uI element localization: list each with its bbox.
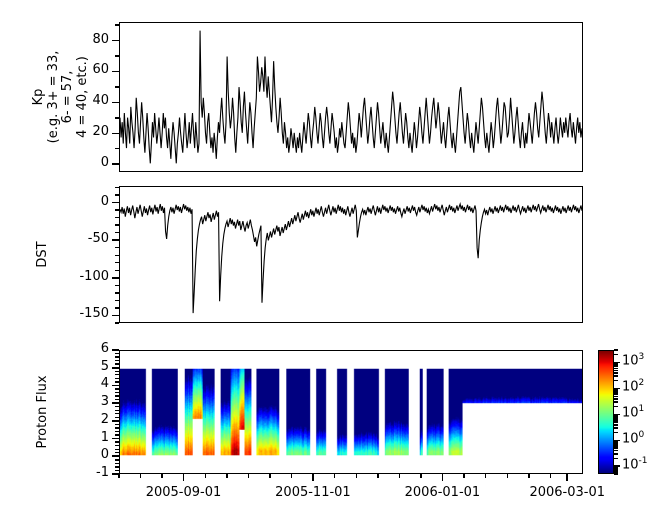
colorbar-tick-minor	[614, 366, 618, 368]
colorbar-tick-minor	[614, 372, 618, 374]
y-tick-major	[112, 239, 119, 241]
colorbar-tick-minor	[614, 398, 618, 400]
y-tick-minor	[115, 381, 119, 382]
y-tick-minor	[115, 463, 119, 464]
y-tick-minor	[115, 470, 119, 471]
y-tick-minor	[115, 270, 119, 271]
colorbar-tick-label: 101	[622, 404, 644, 420]
colorbar-tick-minor	[614, 389, 618, 391]
y-tick-minor	[115, 417, 119, 418]
y-tick-label: -150	[61, 306, 109, 321]
y-tick-label: -100	[61, 269, 109, 284]
colorbar-tick-minor	[614, 363, 618, 365]
colorbar-tick-label: 102	[622, 378, 644, 394]
x-tick-minor	[140, 474, 141, 478]
y-tick-label: 40	[61, 93, 109, 108]
dst-series-line	[120, 187, 582, 322]
y-tick-label: 3	[61, 394, 109, 409]
y-tick-label: 4	[61, 376, 109, 391]
colorbar-tick-minor	[614, 467, 618, 469]
y-tick-label: 20	[61, 124, 109, 139]
y-tick-minor	[115, 466, 119, 467]
y-tick-minor	[115, 374, 119, 375]
kp-plot-panel	[119, 22, 583, 172]
y-tick-minor	[115, 55, 119, 56]
y-tick-minor	[115, 285, 119, 286]
x-tick-minor	[248, 474, 249, 478]
x-tick-minor	[507, 474, 508, 478]
colorbar-tick-minor	[614, 442, 618, 444]
y-tick-minor	[115, 427, 119, 428]
y-tick-label: 60	[61, 62, 109, 77]
colorbar-tick-minor	[614, 416, 618, 418]
x-tick-minor	[550, 474, 551, 478]
y-tick-minor	[115, 378, 119, 379]
y-tick-major	[112, 315, 119, 317]
y-tick-minor	[115, 363, 119, 364]
y-tick-major	[112, 202, 119, 204]
colorbar-tick-minor	[614, 393, 618, 395]
x-tick-minor	[420, 474, 421, 478]
colorbar-tick-minor	[614, 424, 618, 426]
x-tick-label: 2006-03-01	[507, 485, 627, 500]
colorbar-tick-minor	[614, 375, 618, 377]
y-tick-minor	[115, 441, 119, 442]
y-tick-minor	[115, 24, 119, 25]
y-tick-minor	[115, 371, 119, 372]
x-tick-label: 2005-11-01	[253, 485, 373, 500]
colorbar-tick-minor	[614, 415, 618, 417]
y-tick-minor	[115, 406, 119, 407]
y-tick-minor	[115, 388, 119, 389]
y-tick-minor	[115, 353, 119, 354]
y-tick-minor	[115, 217, 119, 218]
y-tick-label: -1	[61, 465, 109, 480]
x-tick-minor	[291, 474, 292, 478]
colorbar-tick-minor	[614, 364, 618, 366]
colorbar-tick-minor	[614, 432, 618, 434]
colorbar-tick-minor	[614, 354, 618, 356]
x-tick-minor	[399, 474, 400, 478]
y-tick-label: 0	[61, 194, 109, 209]
colorbar-tick-minor	[614, 421, 618, 423]
colorbar-tick-minor	[614, 453, 618, 455]
colorbar-tick-minor	[614, 468, 618, 470]
y-tick-minor	[115, 445, 119, 446]
y-tick-minor	[115, 449, 119, 450]
x-tick-minor	[226, 474, 227, 478]
y-tick-minor	[115, 459, 119, 460]
x-tick-minor	[334, 474, 335, 478]
y-tick-major	[112, 367, 119, 369]
x-tick-minor	[485, 474, 486, 478]
figure-root: Kp (e.g. 3+ = 33, 6- = 57, 4 = 40, etc.)…	[0, 0, 665, 523]
x-tick-major	[566, 474, 568, 481]
dst-plot-panel	[119, 186, 583, 323]
colorbar-tick-label: 10-1	[622, 456, 648, 472]
proton-flux-spectrogram	[120, 351, 582, 473]
y-tick-major	[112, 71, 119, 73]
x-tick-minor	[161, 474, 162, 478]
y-tick-minor	[115, 399, 119, 400]
colorbar-tick-label: 103	[622, 352, 644, 368]
colorbar-tick-minor	[614, 392, 618, 394]
x-tick-minor	[269, 474, 270, 478]
y-tick-minor	[115, 392, 119, 393]
x-tick-minor	[356, 474, 357, 478]
y-tick-major	[112, 420, 119, 422]
colorbar-tick-minor	[614, 401, 618, 403]
y-tick-label: 80	[61, 32, 109, 47]
y-tick-minor	[115, 262, 119, 263]
y-tick-minor	[115, 255, 119, 256]
y-tick-major	[112, 455, 119, 457]
y-tick-major	[112, 349, 119, 351]
colorbar-tick-minor	[614, 470, 618, 472]
y-tick-major	[112, 133, 119, 135]
y-tick-minor	[115, 232, 119, 233]
y-tick-minor	[115, 194, 119, 195]
colorbar-tick-minor	[614, 368, 618, 370]
y-tick-minor	[115, 307, 119, 308]
y-tick-label: 5	[61, 359, 109, 374]
colorbar-tick-minor	[614, 458, 618, 460]
x-tick-minor	[463, 474, 464, 478]
x-tick-minor	[528, 474, 529, 478]
y-tick-major	[112, 277, 119, 279]
y-tick-minor	[115, 360, 119, 361]
colorbar-tick-minor	[614, 418, 618, 420]
y-tick-label: 0	[61, 447, 109, 462]
colorbar-tick-minor	[614, 473, 618, 475]
y-tick-major	[112, 438, 119, 440]
y-tick-minor	[115, 424, 119, 425]
colorbar-tick-minor	[614, 370, 618, 372]
y-tick-minor	[115, 434, 119, 435]
colorbar-tick-label: 100	[622, 430, 644, 446]
colorbar-tick-minor	[614, 396, 618, 398]
y-tick-label: 2	[61, 412, 109, 427]
colorbar-tick-minor	[614, 349, 618, 351]
colorbar-tick-minor	[614, 444, 618, 446]
y-tick-major	[112, 385, 119, 387]
colorbar-tick-minor	[614, 445, 618, 447]
colorbar-tick-minor	[614, 441, 618, 443]
y-tick-minor	[115, 148, 119, 149]
colorbar-tick-minor	[614, 447, 618, 449]
y-tick-minor	[115, 413, 119, 414]
y-tick-minor	[115, 395, 119, 396]
y-tick-major	[112, 40, 119, 42]
y-tick-minor	[115, 86, 119, 87]
y-tick-minor	[115, 452, 119, 453]
y-tick-minor	[115, 117, 119, 118]
proton-flux-plot-panel	[119, 350, 583, 474]
x-tick-minor	[118, 474, 119, 478]
y-tick-label: -50	[61, 231, 109, 246]
y-tick-major	[112, 402, 119, 404]
x-tick-label: 2005-09-01	[123, 485, 243, 500]
y-tick-minor	[115, 187, 119, 188]
x-tick-minor	[377, 474, 378, 478]
x-tick-minor	[205, 474, 206, 478]
y-tick-minor	[115, 224, 119, 225]
x-tick-label: 2006-01-01	[382, 485, 502, 500]
y-tick-minor	[115, 209, 119, 210]
colorbar-tick-minor	[614, 390, 618, 392]
y-tick-minor	[115, 247, 119, 248]
colorbar-tick-minor	[614, 419, 618, 421]
x-tick-major	[183, 474, 185, 481]
colorbar-tick-minor	[614, 450, 618, 452]
y-tick-label: 1	[61, 430, 109, 445]
y-tick-minor	[115, 322, 119, 323]
kp-series-line	[120, 23, 582, 171]
colorbar-tick-minor	[614, 427, 618, 429]
flux-colorbar	[598, 350, 614, 474]
colorbar-tick-minor	[614, 380, 618, 382]
y-tick-minor	[115, 410, 119, 411]
colorbar-tick-minor	[614, 471, 618, 473]
x-tick-major	[312, 474, 314, 481]
y-tick-major	[112, 163, 119, 165]
y-tick-label: 6	[61, 341, 109, 356]
y-tick-minor	[115, 356, 119, 357]
y-tick-major	[112, 102, 119, 104]
colorbar-tick-minor	[614, 406, 618, 408]
x-tick-major	[442, 474, 444, 481]
y-tick-minor	[115, 431, 119, 432]
y-tick-label: 0	[61, 155, 109, 170]
y-tick-minor	[115, 292, 119, 293]
y-tick-minor	[115, 300, 119, 301]
